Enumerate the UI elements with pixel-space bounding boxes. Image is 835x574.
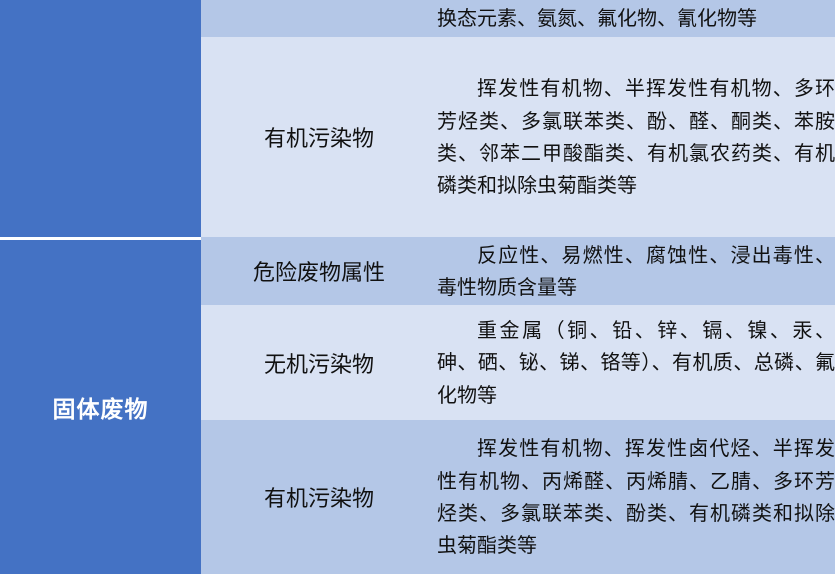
detail-cell-3: 重金属（铜、铅、锌、镉、镍、汞、砷、硒、铋、锑、铬等）、有机质、总磷、氟化物等 bbox=[437, 305, 835, 420]
table-row: 固体废物 危险废物属性 反应性、易燃性、腐蚀性、浸出毒性、毒性物质含量等 bbox=[0, 237, 835, 305]
detail-cell-1: 挥发性有机物、半挥发性有机物、多环芳烃类、多氯联苯类、酚、醛、酮类、苯胺类、邻苯… bbox=[437, 37, 835, 237]
subject-cell-4: 有机污染物 bbox=[201, 420, 437, 574]
pollutant-table: 换态元素、氨氮、氟化物、氰化物等 有机污染物 挥发性有机物、半挥发性有机物、多环… bbox=[0, 0, 835, 574]
detail-cell-0: 换态元素、氨氮、氟化物、氰化物等 bbox=[437, 0, 835, 37]
category-cell-solid-waste: 固体废物 bbox=[0, 237, 201, 574]
subject-cell-1: 有机污染物 bbox=[201, 37, 437, 237]
detail-cell-4: 挥发性有机物、挥发性卤代烃、半挥发性有机物、丙烯醛、丙烯腈、乙腈、多环芳烃类、多… bbox=[437, 420, 835, 574]
detail-cell-2: 反应性、易燃性、腐蚀性、浸出毒性、毒性物质含量等 bbox=[437, 237, 835, 305]
pollutant-table-container: 换态元素、氨氮、氟化物、氰化物等 有机污染物 挥发性有机物、半挥发性有机物、多环… bbox=[0, 0, 835, 574]
table-row: 换态元素、氨氮、氟化物、氰化物等 bbox=[0, 0, 835, 37]
subject-cell-2: 危险废物属性 bbox=[201, 237, 437, 305]
subject-cell-0 bbox=[201, 0, 437, 37]
category-spacer-cell bbox=[0, 0, 201, 237]
subject-cell-3: 无机污染物 bbox=[201, 305, 437, 420]
